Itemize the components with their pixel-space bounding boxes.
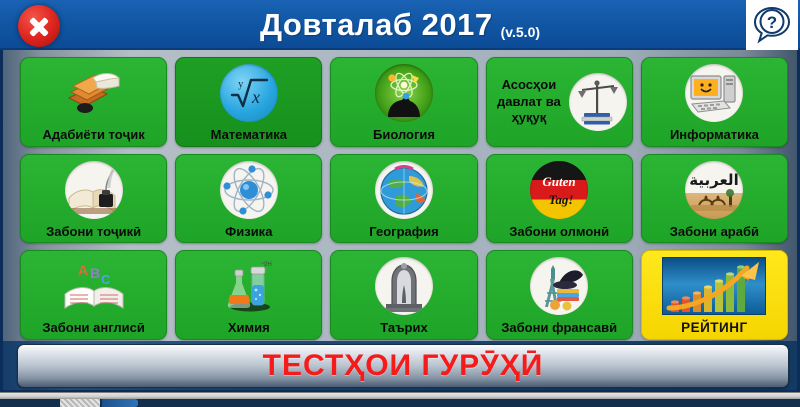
close-icon — [18, 5, 60, 47]
subject-art — [331, 155, 476, 225]
globe-icon — [375, 161, 433, 219]
svg-text:2H: 2H — [264, 262, 272, 268]
german-flag-text-line1: Guten — [543, 174, 576, 189]
subject-button-biology[interactable]: Биология — [330, 57, 477, 147]
subject-label: Забони англисӣ — [21, 321, 166, 335]
main-panel: Адабиёти тоҷик y x Математика — [0, 50, 800, 387]
taskbar-window-button[interactable] — [102, 399, 138, 407]
subject-grid: Адабиёти тоҷик y x Математика — [20, 57, 788, 340]
taskbar-tray[interactable] — [60, 399, 100, 407]
subject-label: Забони франсавӣ — [487, 321, 632, 335]
arabic-script-text: العربية — [690, 171, 739, 189]
app-version-text: (v.5.0) — [501, 24, 540, 40]
taskbar-rail — [0, 392, 800, 399]
subject-label: Физика — [176, 225, 321, 239]
computer-smiley-icon — [685, 64, 743, 122]
help-button[interactable]: ? — [746, 0, 798, 50]
subject-label: Забони арабӣ — [642, 225, 787, 239]
atom-orbit-icon — [220, 161, 278, 219]
subject-art — [176, 155, 321, 225]
german-flag-icon: Guten Tag! — [530, 161, 588, 219]
arabic-camel-icon: العربية — [685, 161, 743, 219]
title-bar: Довталаб 2017 (v.5.0) ? — [0, 0, 800, 50]
subject-art — [331, 251, 476, 321]
svg-text:B: B — [90, 265, 100, 281]
subject-button-german-language[interactable]: Guten Tag! Забони олмонӣ — [486, 154, 633, 244]
subject-button-state-and-law[interactable]: Асосҳои давлат ва ҳуқуқ — [486, 57, 633, 147]
monument-icon — [375, 257, 433, 315]
svg-text:x: x — [251, 87, 260, 107]
subject-button-mathematics[interactable]: y x Математика — [175, 57, 322, 147]
svg-text:C: C — [101, 272, 111, 287]
subject-art — [642, 58, 787, 128]
subject-label: Асосҳои давлат ва ҳуқуқ — [489, 77, 569, 127]
subject-label: Химия — [176, 321, 321, 335]
close-button[interactable] — [18, 5, 60, 47]
subject-art — [21, 155, 166, 225]
abc-open-book-icon: A B C — [61, 260, 127, 312]
group-tests-button[interactable]: ТЕСТҲОИ ГУРӮҲӢ — [17, 344, 789, 388]
chemistry-flasks-icon: 2H — [218, 259, 280, 313]
svg-text:A: A — [78, 262, 88, 278]
subject-button-chemistry[interactable]: 2H Химия — [175, 250, 322, 340]
subject-label: География — [331, 225, 476, 239]
subject-button-english-language[interactable]: A B C Забони англисӣ — [20, 250, 167, 340]
subject-label: Информатика — [642, 128, 787, 142]
subject-label: РЕЙТИНГ — [642, 321, 787, 335]
books-stack-icon — [63, 68, 125, 118]
svg-text:y: y — [238, 78, 244, 90]
german-flag-text-line2: Tag! — [549, 192, 574, 207]
square-root-x-icon: y x — [220, 64, 278, 122]
group-tests-label: ТЕСТҲОИ ГУРӮҲӢ — [263, 349, 544, 383]
subject-art — [21, 58, 166, 128]
subject-art: العربية — [642, 155, 787, 225]
subject-button-history[interactable]: Таърих — [330, 250, 477, 340]
subject-button-tajik-language[interactable]: Забони тоҷикӣ — [20, 154, 167, 244]
subject-label: Таърих — [331, 321, 476, 335]
subject-button-french-language[interactable]: Забони франсавӣ — [486, 250, 633, 340]
page-title: Довталаб 2017 (v.5.0) — [0, 0, 800, 50]
book-and-inkwell-icon — [65, 161, 123, 219]
subject-button-rating[interactable]: РЕЙТИНГ — [641, 250, 788, 340]
bottom-bar: ТЕСТҲОИ ГУРӮҲӢ — [0, 341, 800, 392]
svg-text:?: ? — [767, 13, 777, 32]
subject-button-geography[interactable]: География — [330, 154, 477, 244]
subject-art: Guten Tag! — [487, 155, 632, 225]
atom-in-hand-icon — [375, 64, 433, 122]
subject-art: A B C — [21, 251, 166, 321]
subject-art — [487, 251, 632, 321]
subject-button-literature[interactable]: Адабиёти тоҷик — [20, 57, 167, 147]
subject-art — [331, 58, 476, 128]
subject-button-informatics[interactable]: Информатика — [641, 57, 788, 147]
os-taskbar[interactable] — [0, 392, 800, 407]
subject-art: y x — [176, 58, 321, 128]
question-mark-help-icon: ? — [752, 5, 792, 45]
subject-button-physics[interactable]: Физика — [175, 154, 322, 244]
subject-label: Биология — [331, 128, 476, 142]
subject-label: Адабиёти тоҷик — [21, 128, 166, 142]
eiffel-tower-icon — [530, 257, 588, 315]
subject-label: Забони олмонӣ — [487, 225, 632, 239]
subject-button-arabic-language[interactable]: العربية Забони арабӣ — [641, 154, 788, 244]
scales-of-justice-icon — [569, 73, 627, 131]
application-window: Довталаб 2017 (v.5.0) ? — [0, 0, 800, 407]
subject-label: Забони тоҷикӣ — [21, 225, 166, 239]
subject-label: Математика — [176, 128, 321, 142]
growth-bar-chart-icon — [662, 257, 766, 315]
app-title-text: Довталаб 2017 — [260, 7, 493, 43]
subject-art: 2H — [176, 251, 321, 321]
subject-art — [642, 251, 787, 320]
